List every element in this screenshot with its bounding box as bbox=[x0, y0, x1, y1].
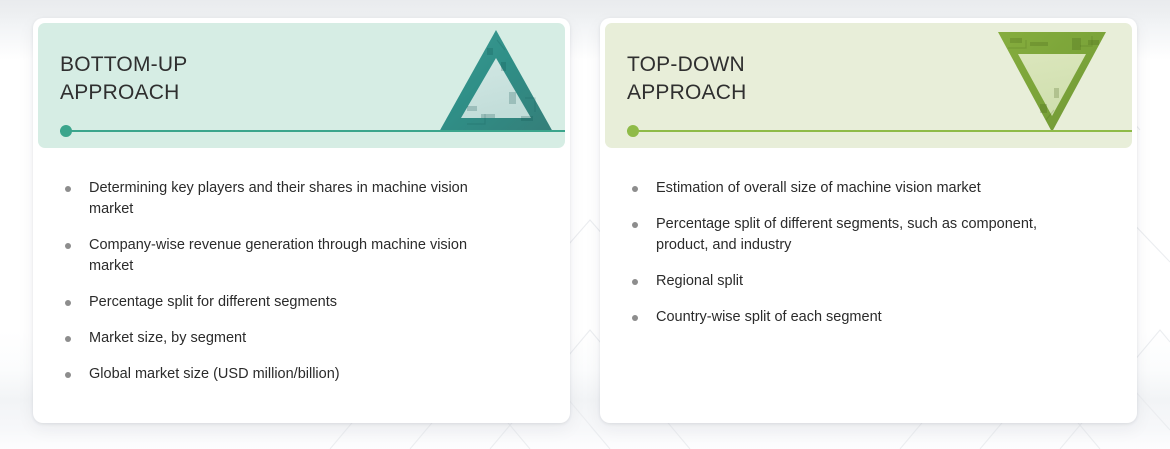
list-item-text: Company-wise revenue generation through … bbox=[89, 237, 467, 274]
bullet-list-top-down: Estimation of overall size of machine vi… bbox=[628, 178, 1109, 328]
card-header-top-down: TOP-DOWN APPROACH bbox=[605, 23, 1132, 148]
list-item-text: Percentage split for different segments bbox=[89, 294, 337, 310]
accent-rule-top-down bbox=[627, 130, 1132, 132]
list-item-text: Country-wise split of each segment bbox=[656, 309, 882, 325]
accent-rule-bottom-up bbox=[60, 130, 565, 132]
card-title-bottom-up: BOTTOM-UP APPROACH bbox=[60, 51, 187, 107]
downward-triangle-icon bbox=[996, 28, 1108, 136]
list-item: Estimation of overall size of machine vi… bbox=[628, 178, 1083, 199]
list-item: Global market size (USD million/billion) bbox=[61, 364, 501, 385]
list-item: Determining key players and their shares… bbox=[61, 178, 501, 220]
list-item-text: Market size, by segment bbox=[89, 330, 246, 346]
list-item-text: Percentage split of different segments, … bbox=[656, 216, 1037, 253]
approach-cards-container: BOTTOM-UP APPROACH bbox=[0, 0, 1170, 449]
card-bottom-up-approach: BOTTOM-UP APPROACH bbox=[33, 18, 570, 423]
bullet-list-bottom-up: Determining key players and their shares… bbox=[61, 178, 542, 385]
bullet-dot-icon bbox=[632, 279, 638, 285]
card-header-bottom-up: BOTTOM-UP APPROACH bbox=[38, 23, 565, 148]
bullet-dot-icon bbox=[65, 186, 71, 192]
list-item: Percentage split of different segments, … bbox=[628, 214, 1083, 256]
bullet-dot-icon bbox=[632, 222, 638, 228]
accent-dot-bottom-up bbox=[60, 125, 72, 137]
bullet-dot-icon bbox=[65, 300, 71, 306]
card-body-top-down: Estimation of overall size of machine vi… bbox=[600, 148, 1137, 423]
list-item: Percentage split for different segments bbox=[61, 292, 501, 313]
bullet-dot-icon bbox=[632, 315, 638, 321]
page-background: BOTTOM-UP APPROACH bbox=[0, 0, 1170, 449]
list-item: Market size, by segment bbox=[61, 328, 501, 349]
list-item-text: Regional split bbox=[656, 273, 743, 289]
accent-dot-top-down bbox=[627, 125, 639, 137]
bullet-dot-icon bbox=[65, 336, 71, 342]
list-item: Country-wise split of each segment bbox=[628, 307, 1083, 328]
list-item-text: Estimation of overall size of machine vi… bbox=[656, 180, 981, 196]
upward-triangle-icon bbox=[437, 28, 555, 136]
list-item: Regional split bbox=[628, 271, 1083, 292]
bullet-dot-icon bbox=[632, 186, 638, 192]
bullet-dot-icon bbox=[65, 243, 71, 249]
list-item-text: Global market size (USD million/billion) bbox=[89, 366, 340, 382]
card-title-top-down: TOP-DOWN APPROACH bbox=[627, 51, 746, 107]
list-item: Company-wise revenue generation through … bbox=[61, 235, 501, 277]
list-item-text: Determining key players and their shares… bbox=[89, 180, 468, 217]
card-body-bottom-up: Determining key players and their shares… bbox=[33, 148, 570, 423]
card-top-down-approach: TOP-DOWN APPROACH bbox=[600, 18, 1137, 423]
bullet-dot-icon bbox=[65, 372, 71, 378]
